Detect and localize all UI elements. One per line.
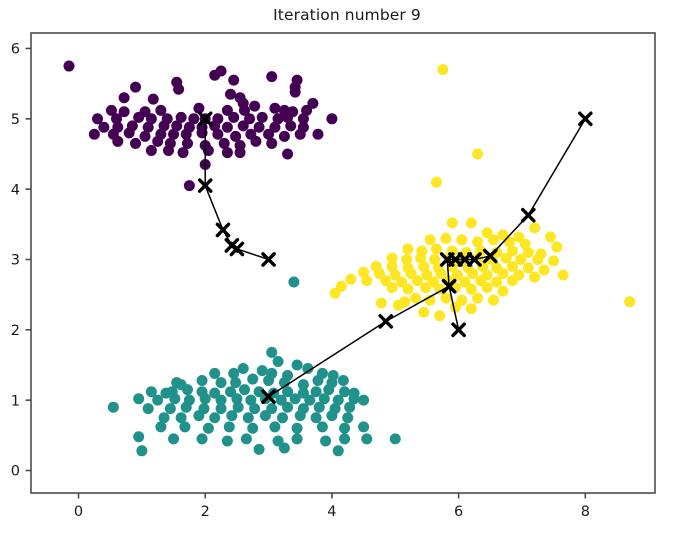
data-point bbox=[345, 274, 356, 285]
data-point bbox=[216, 403, 227, 414]
data-point bbox=[290, 87, 301, 98]
data-point bbox=[431, 177, 442, 188]
data-point bbox=[203, 423, 214, 434]
data-point bbox=[344, 402, 355, 413]
data-point bbox=[209, 368, 220, 379]
data-point bbox=[224, 421, 235, 432]
y-axis-ticks: 0123456 bbox=[11, 42, 31, 480]
data-point bbox=[119, 92, 130, 103]
data-point bbox=[434, 310, 445, 321]
centroid-marker bbox=[217, 224, 228, 235]
data-point bbox=[532, 254, 543, 265]
data-point bbox=[235, 147, 246, 158]
data-point bbox=[387, 282, 398, 293]
series-cluster_teal bbox=[108, 276, 401, 456]
data-point bbox=[282, 402, 293, 413]
x-tick-label: 6 bbox=[454, 504, 463, 520]
data-point bbox=[402, 243, 413, 254]
y-tick-label: 6 bbox=[11, 42, 20, 58]
data-point bbox=[225, 89, 236, 100]
y-tick-label: 1 bbox=[11, 393, 20, 409]
data-point bbox=[260, 410, 271, 421]
data-point bbox=[241, 433, 252, 444]
data-point bbox=[239, 384, 250, 395]
data-point bbox=[279, 131, 290, 142]
data-point bbox=[178, 147, 189, 158]
data-point bbox=[226, 410, 237, 421]
data-point bbox=[273, 356, 284, 367]
data-point bbox=[285, 120, 296, 131]
data-point bbox=[228, 112, 239, 123]
data-point bbox=[200, 393, 211, 404]
data-point bbox=[143, 403, 154, 414]
data-point bbox=[238, 120, 249, 131]
data-point bbox=[269, 421, 280, 432]
centroid-marker bbox=[523, 210, 534, 221]
data-point bbox=[523, 262, 534, 273]
data-point bbox=[136, 445, 147, 456]
data-point bbox=[179, 421, 190, 432]
data-point bbox=[402, 284, 413, 295]
data-point bbox=[181, 402, 192, 413]
data-point bbox=[266, 347, 277, 358]
data-point bbox=[184, 180, 195, 191]
data-point bbox=[358, 395, 369, 406]
data-point bbox=[148, 94, 159, 105]
data-point bbox=[250, 136, 261, 147]
data-point bbox=[130, 82, 141, 93]
matplotlib-figure: Iteration number 9 02468 0123456 bbox=[0, 0, 694, 536]
data-point bbox=[108, 402, 119, 413]
data-point bbox=[456, 234, 467, 245]
data-point bbox=[425, 234, 436, 245]
data-point bbox=[257, 365, 268, 376]
data-point bbox=[311, 412, 322, 423]
data-point bbox=[292, 433, 303, 444]
data-point bbox=[212, 129, 223, 140]
data-point bbox=[551, 241, 562, 252]
data-point bbox=[254, 444, 265, 455]
data-point bbox=[279, 442, 290, 453]
data-point bbox=[266, 71, 277, 82]
data-point bbox=[491, 276, 502, 287]
data-point bbox=[390, 433, 401, 444]
data-point bbox=[420, 282, 431, 293]
data-point bbox=[338, 375, 349, 386]
data-point bbox=[292, 423, 303, 434]
data-point bbox=[269, 103, 280, 114]
data-point bbox=[209, 412, 220, 423]
data-point bbox=[193, 410, 204, 421]
data-point bbox=[624, 296, 635, 307]
data-point bbox=[197, 375, 208, 386]
data-point bbox=[361, 275, 372, 286]
data-point bbox=[295, 129, 306, 140]
data-point bbox=[314, 402, 325, 413]
data-point bbox=[249, 101, 260, 112]
data-point bbox=[89, 129, 100, 140]
data-point bbox=[133, 431, 144, 442]
data-point bbox=[466, 217, 477, 228]
data-point bbox=[539, 265, 550, 276]
data-point bbox=[228, 368, 239, 379]
centroid-marker bbox=[580, 113, 591, 124]
data-point bbox=[447, 217, 458, 228]
data-point bbox=[247, 423, 258, 434]
data-point bbox=[282, 148, 293, 159]
data-point bbox=[146, 145, 157, 156]
data-point bbox=[333, 445, 344, 456]
data-point bbox=[358, 421, 369, 432]
data-point bbox=[339, 433, 350, 444]
data-point bbox=[339, 423, 350, 434]
data-point bbox=[312, 129, 323, 140]
series-cluster_yellow bbox=[330, 64, 636, 321]
data-point bbox=[342, 412, 353, 423]
x-tick-label: 2 bbox=[201, 504, 210, 520]
data-point bbox=[292, 359, 303, 370]
data-point bbox=[472, 293, 483, 304]
data-point bbox=[529, 272, 540, 283]
centroid-marker bbox=[453, 324, 464, 335]
data-point bbox=[155, 421, 166, 432]
x-tick-label: 0 bbox=[74, 504, 83, 520]
data-point bbox=[529, 222, 540, 233]
data-point bbox=[277, 412, 288, 423]
data-point bbox=[263, 375, 274, 386]
data-point bbox=[222, 435, 233, 446]
teal-centroid-path bbox=[269, 286, 450, 396]
data-point bbox=[507, 275, 518, 286]
centroid-marker bbox=[380, 316, 391, 327]
data-point bbox=[326, 113, 337, 124]
data-point bbox=[497, 286, 508, 297]
y-tick-label: 4 bbox=[11, 182, 20, 198]
data-point bbox=[437, 64, 448, 75]
data-point bbox=[472, 148, 483, 159]
data-point bbox=[266, 138, 277, 149]
data-point bbox=[326, 410, 337, 421]
data-point bbox=[222, 122, 233, 133]
data-point bbox=[133, 393, 144, 404]
data-point bbox=[317, 421, 328, 432]
data-point bbox=[152, 395, 163, 406]
y-tick-label: 3 bbox=[11, 253, 20, 269]
data-point bbox=[488, 234, 499, 245]
y-tick-label: 0 bbox=[11, 464, 20, 480]
data-point bbox=[450, 302, 461, 313]
data-point bbox=[98, 122, 109, 133]
data-point bbox=[257, 112, 268, 123]
data-point bbox=[168, 433, 179, 444]
data-point bbox=[64, 61, 75, 72]
data-point bbox=[482, 282, 493, 293]
data-point bbox=[112, 136, 123, 147]
data-point bbox=[140, 131, 151, 142]
data-point bbox=[440, 233, 451, 244]
data-point bbox=[169, 393, 180, 404]
data-point bbox=[290, 393, 301, 404]
centroid-marker bbox=[263, 254, 274, 265]
data-point bbox=[545, 231, 556, 242]
data-point bbox=[330, 288, 341, 299]
data-point bbox=[209, 70, 220, 81]
data-point bbox=[173, 84, 184, 95]
data-point bbox=[312, 375, 323, 386]
data-point bbox=[558, 269, 569, 280]
data-points-layer bbox=[64, 61, 636, 457]
data-point bbox=[163, 145, 174, 156]
data-point bbox=[222, 147, 233, 158]
data-point bbox=[376, 298, 387, 309]
data-point bbox=[466, 303, 477, 314]
data-point bbox=[197, 433, 208, 444]
data-point bbox=[130, 138, 141, 149]
data-point bbox=[216, 377, 227, 388]
x-tick-label: 4 bbox=[327, 504, 336, 520]
y-tick-label: 5 bbox=[11, 112, 20, 128]
x-tick-label: 8 bbox=[581, 504, 590, 520]
data-point bbox=[249, 403, 260, 414]
data-point bbox=[418, 307, 429, 318]
data-point bbox=[152, 136, 163, 147]
data-point bbox=[466, 284, 477, 295]
y-tick-label: 2 bbox=[11, 323, 20, 339]
data-point bbox=[393, 300, 404, 311]
data-point bbox=[228, 75, 239, 86]
data-point bbox=[431, 243, 442, 254]
data-point bbox=[548, 255, 559, 266]
scatter-plot-canvas: 02468 0123456 bbox=[0, 0, 694, 536]
data-point bbox=[238, 363, 249, 374]
data-point bbox=[124, 127, 135, 138]
data-point bbox=[488, 295, 499, 306]
data-point bbox=[295, 410, 306, 421]
x-axis-ticks: 02468 bbox=[74, 493, 590, 520]
data-point bbox=[165, 403, 176, 414]
data-point bbox=[440, 293, 451, 304]
data-point bbox=[288, 276, 299, 287]
data-point bbox=[247, 374, 258, 385]
data-point bbox=[182, 384, 193, 395]
data-point bbox=[243, 412, 254, 423]
data-point bbox=[320, 435, 331, 446]
data-point bbox=[361, 433, 372, 444]
